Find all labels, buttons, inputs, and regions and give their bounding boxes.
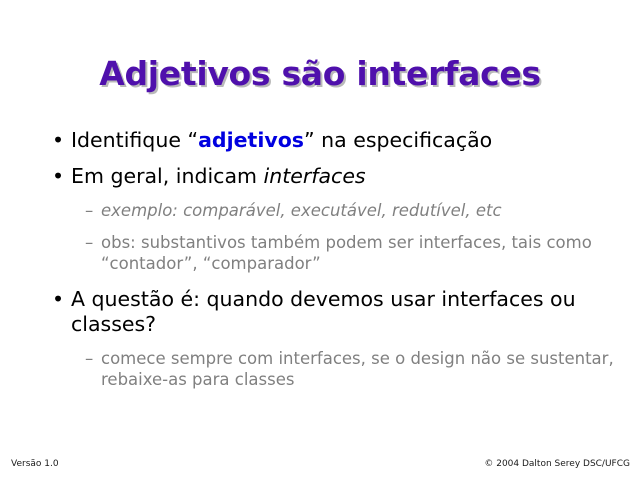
bullet-item-3: • A questão é: quando devemos usar inter… (44, 287, 620, 337)
sub-bullet-item-3: – comece sempre com interfaces, se o des… (44, 348, 620, 390)
bullet-marker-icon: • (52, 164, 64, 189)
sub-bullet-text-2: obs: substantivos também podem ser inter… (101, 233, 592, 273)
slide-body: • Identifique “adjetivos” na especificaç… (44, 128, 620, 397)
bullet-item-2: • Em geral, indicam interfaces (44, 164, 620, 189)
page-title: Adjetivos são interfaces (0, 54, 640, 93)
bullet-text-1-before: Identifique “ (71, 128, 198, 152)
bullet-text-1-after: ” na especificação (304, 128, 492, 152)
footer-copyright: © 2004 Dalton Serey DSC/UFCG (484, 459, 630, 469)
sub-bullet-text-3: comece sempre com interfaces, se o desig… (101, 349, 614, 389)
dash-marker-icon: – (85, 348, 93, 369)
sub-bullet-text-1: exemplo: comparável, executável, redutív… (101, 201, 502, 220)
slide: Adjetivos são interfaces • Identifique “… (0, 0, 640, 480)
bullet-text-2-before: Em geral, indicam (71, 164, 264, 188)
bullet-marker-icon: • (52, 128, 64, 153)
dash-marker-icon: – (85, 232, 93, 253)
bullet-text-1-highlight: adjetivos (198, 128, 304, 152)
sub-bullet-item-2: – obs: substantivos também podem ser int… (44, 232, 620, 274)
footer-version: Versão 1.0 (11, 459, 59, 469)
sub-bullet-item-1: – exemplo: comparável, executável, redut… (44, 200, 620, 221)
bullet-text-3: A questão é: quando devemos usar interfa… (71, 287, 576, 336)
bullet-item-1: • Identifique “adjetivos” na especificaç… (44, 128, 620, 153)
dash-marker-icon: – (85, 200, 93, 221)
bullet-marker-icon: • (52, 287, 64, 312)
bullet-text-2-emphasis: interfaces (264, 164, 366, 188)
